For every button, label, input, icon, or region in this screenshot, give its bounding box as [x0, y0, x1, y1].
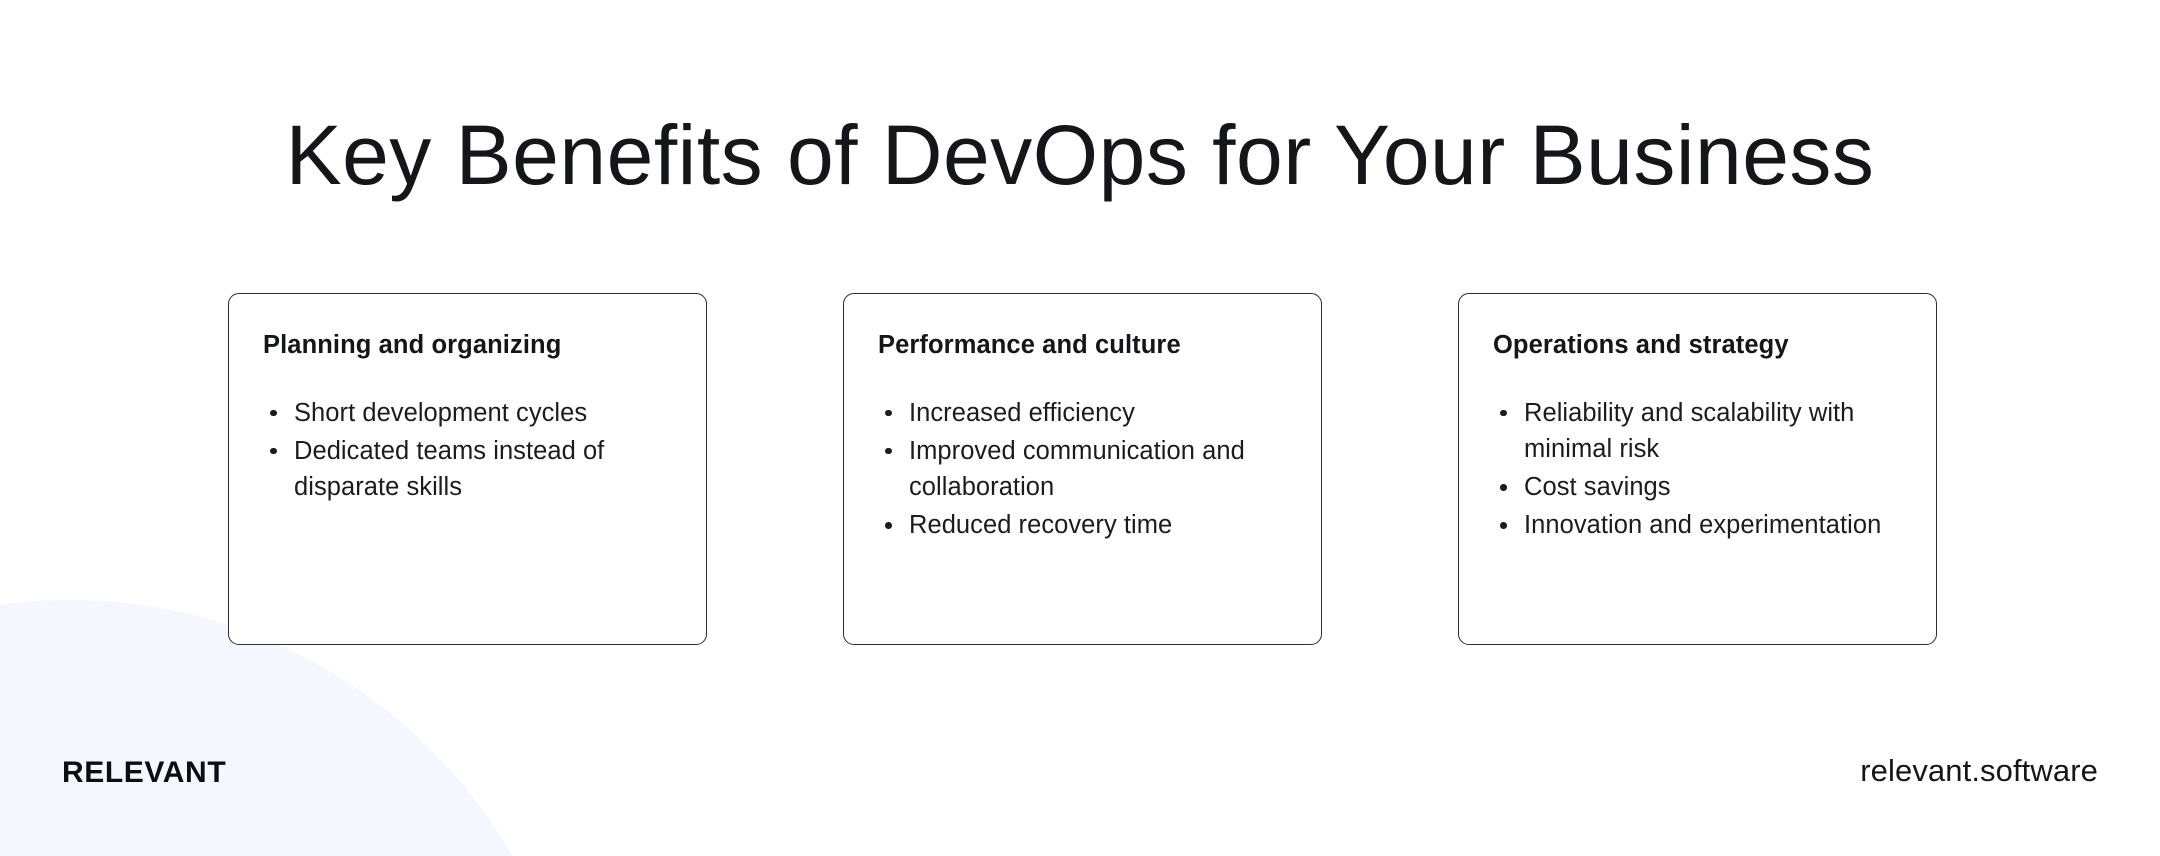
- slide-root: Key Benefits of DevOps for Your Business…: [0, 0, 2160, 856]
- bullet-dot-icon: [885, 522, 892, 529]
- list-item-label: Reduced recovery time: [909, 511, 1172, 539]
- bullet-dot-icon: [1500, 522, 1507, 529]
- card-title: Performance and culture: [878, 330, 1287, 361]
- card-bullet-list: Increased efficiency Improved communicat…: [878, 395, 1287, 544]
- card-bullet-list: Short development cycles Dedicated teams…: [263, 395, 672, 506]
- list-item: Short development cycles: [263, 395, 672, 431]
- list-item: Increased efficiency: [878, 395, 1287, 431]
- bullet-dot-icon: [885, 448, 892, 455]
- list-item: Reliability and scalability with minimal…: [1493, 395, 1902, 467]
- bullet-dot-icon: [1500, 484, 1507, 491]
- benefit-card-operations: Operations and strategy Reliability and …: [1458, 293, 1937, 645]
- list-item-label: Increased efficiency: [909, 399, 1135, 427]
- page-title: Key Benefits of DevOps for Your Business: [0, 108, 2160, 202]
- bullet-dot-icon: [885, 410, 892, 417]
- card-bullet-list: Reliability and scalability with minimal…: [1493, 395, 1902, 544]
- relevant-logo: RELEVANT: [62, 758, 226, 788]
- benefit-card-planning: Planning and organizing Short developmen…: [228, 293, 707, 645]
- footer-website-url: relevant.software: [1860, 755, 2098, 786]
- list-item-label: Short development cycles: [294, 399, 587, 427]
- list-item-label: Reliability and scalability with minimal…: [1524, 399, 1854, 463]
- list-item-label: Dedicated teams instead of disparate ski…: [294, 437, 604, 501]
- list-item: Reduced recovery time: [878, 507, 1287, 543]
- benefit-cards-row: Planning and organizing Short developmen…: [228, 293, 1937, 645]
- list-item: Improved communication and collaboration: [878, 433, 1287, 505]
- list-item: Cost savings: [1493, 469, 1902, 505]
- card-title: Planning and organizing: [263, 330, 672, 361]
- list-item-label: Cost savings: [1524, 473, 1671, 501]
- bullet-dot-icon: [270, 410, 277, 417]
- slide-content: Key Benefits of DevOps for Your Business…: [0, 0, 2160, 856]
- card-title: Operations and strategy: [1493, 330, 1902, 361]
- list-item: Innovation and experimentation: [1493, 507, 1902, 543]
- bullet-dot-icon: [270, 448, 277, 455]
- list-item: Dedicated teams instead of disparate ski…: [263, 433, 672, 505]
- list-item-label: Innovation and experimentation: [1524, 511, 1881, 539]
- list-item-label: Improved communication and collaboration: [909, 437, 1245, 501]
- benefit-card-performance: Performance and culture Increased effici…: [843, 293, 1322, 645]
- bullet-dot-icon: [1500, 410, 1507, 417]
